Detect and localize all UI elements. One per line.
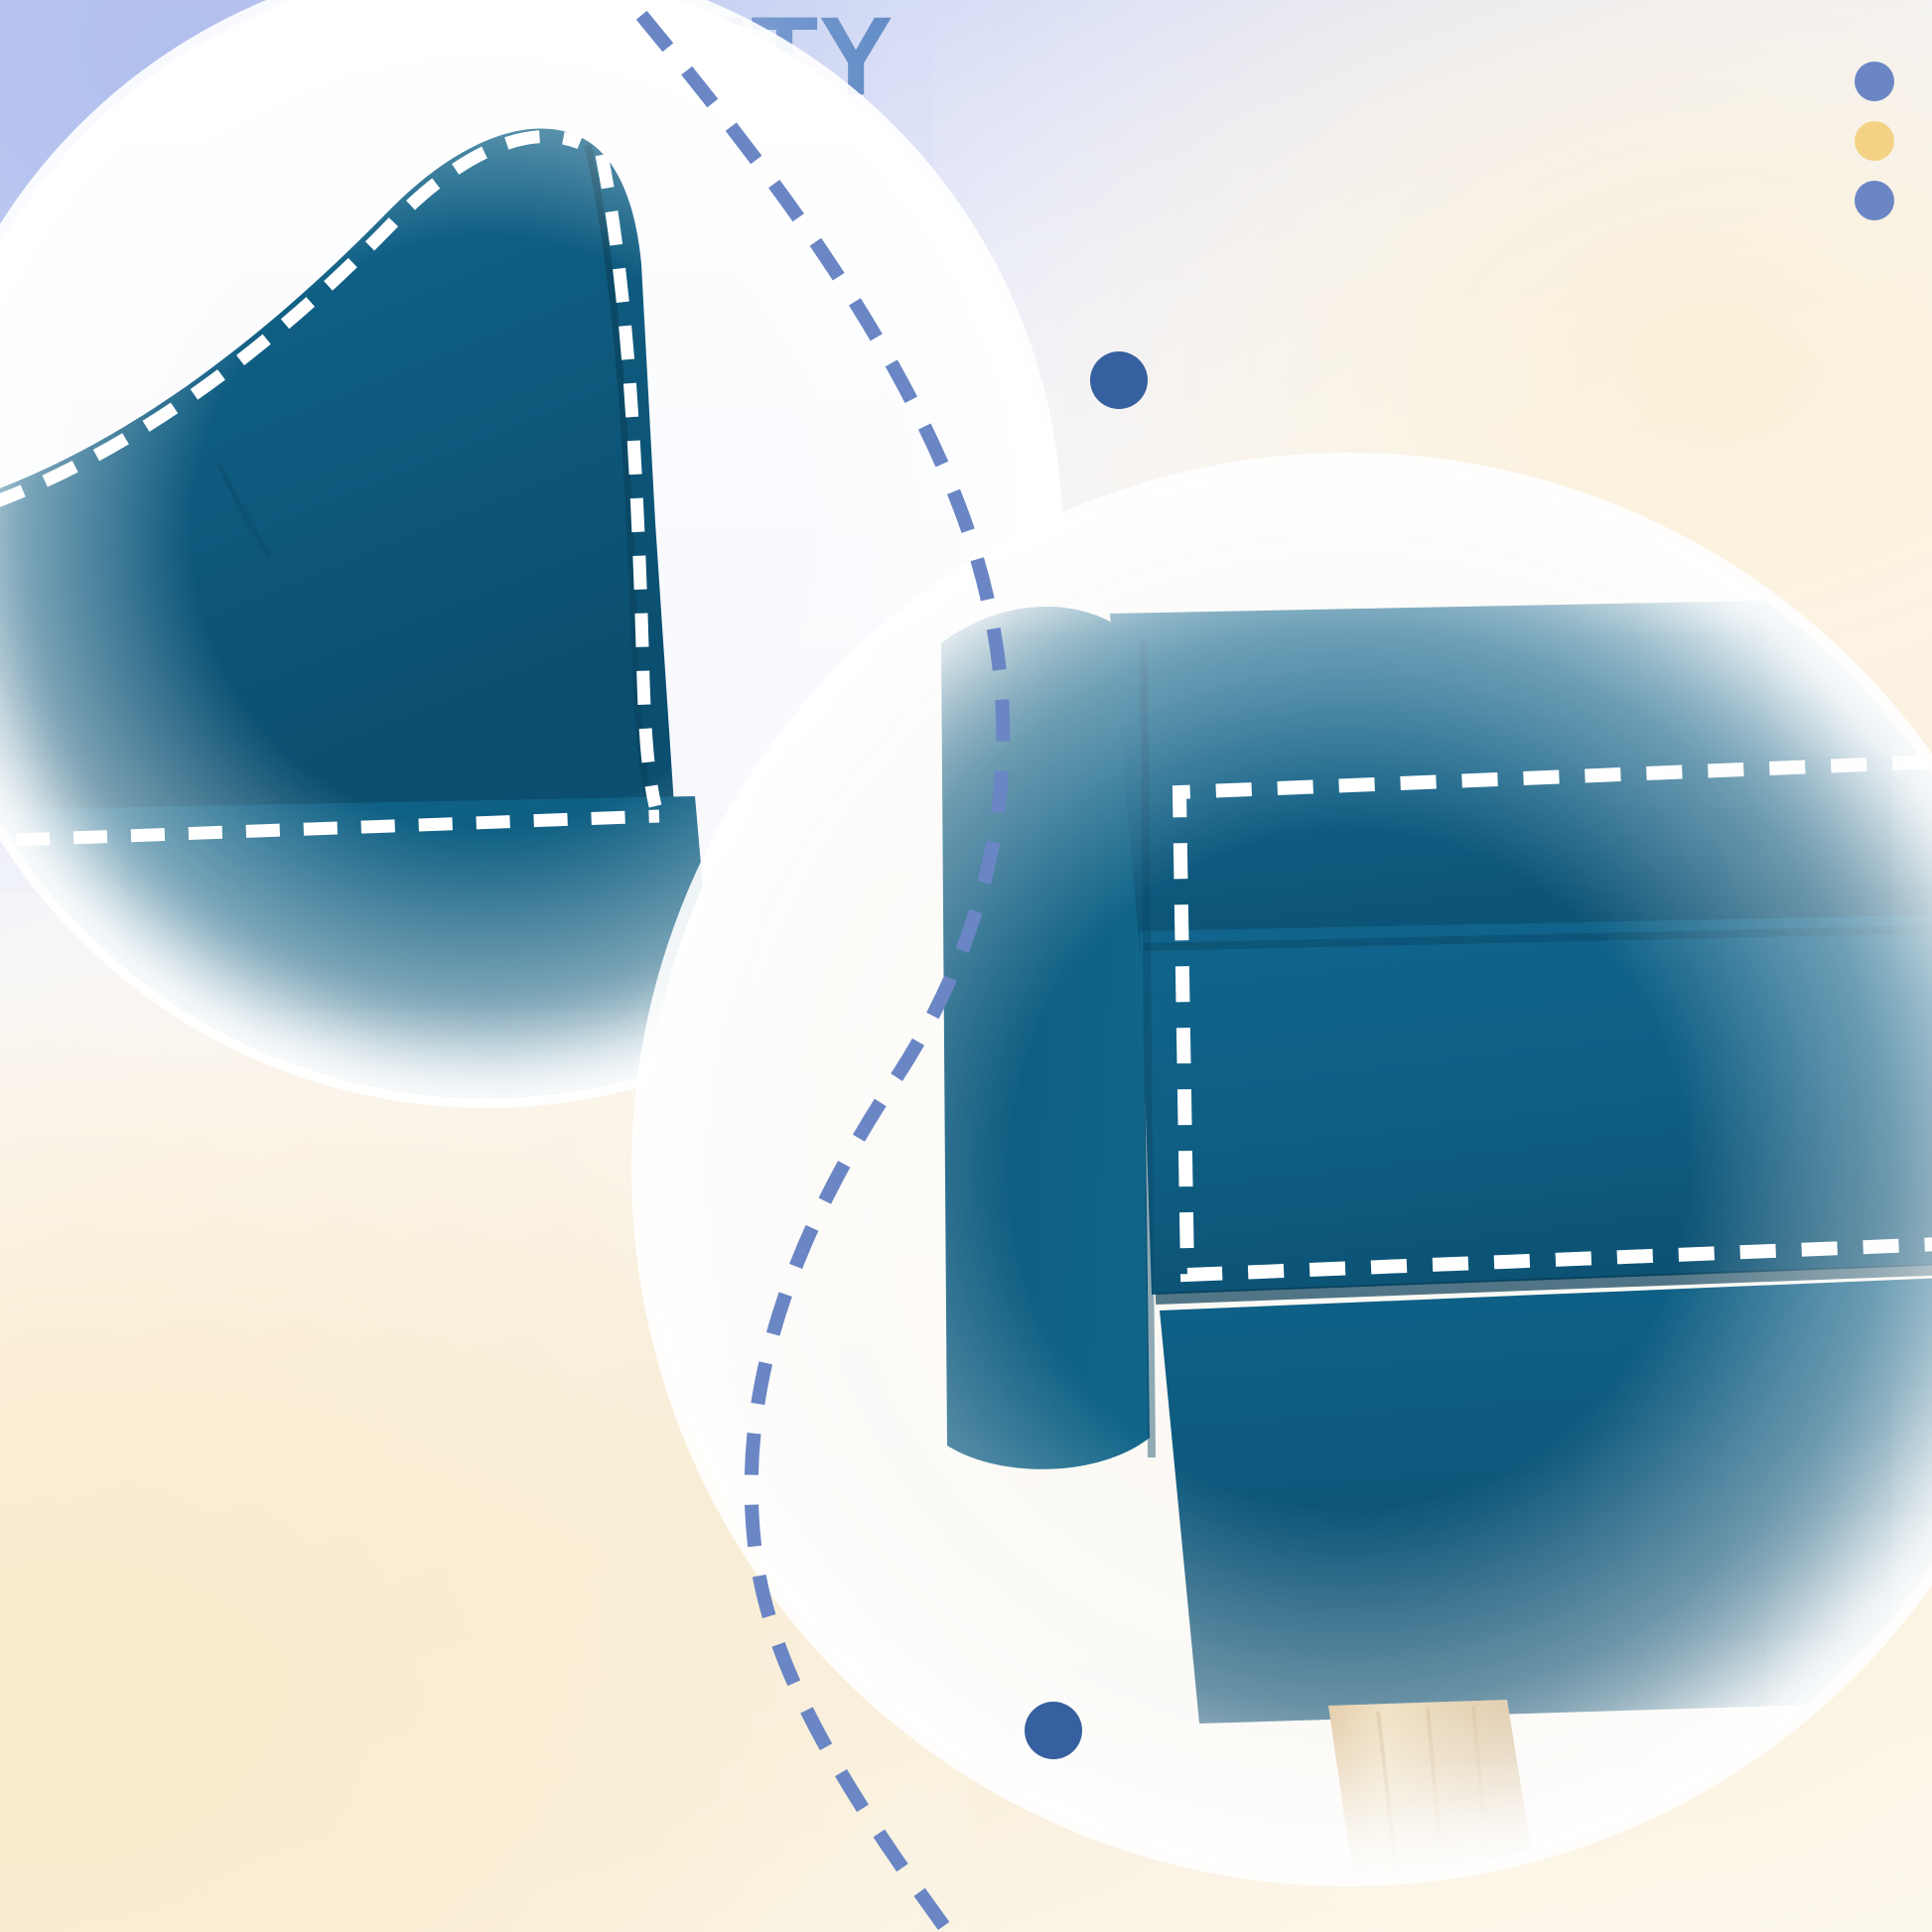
cushion-illustration bbox=[643, 465, 1932, 1874]
wooden-leg bbox=[1328, 1700, 1537, 1874]
cluster-dot-blue-top-icon bbox=[1855, 62, 1894, 101]
decorative-dot-cluster bbox=[1855, 62, 1894, 220]
backrest-panel bbox=[1110, 594, 1932, 951]
seat-shape bbox=[0, 796, 725, 1098]
seat-base-shape bbox=[1160, 1271, 1932, 1724]
connector-dot-bottom bbox=[1025, 1702, 1082, 1759]
cluster-dot-blue-bottom-icon bbox=[1855, 181, 1894, 220]
removable-cushion bbox=[1140, 911, 1932, 1295]
photo-bubble-cushion bbox=[643, 465, 1932, 1874]
cluster-dot-yellow-icon bbox=[1855, 121, 1894, 161]
infographic-canvas: SAFETY DESIGN Protect the pet from falli… bbox=[0, 0, 1932, 1932]
armrest-shape bbox=[941, 607, 1150, 1469]
connector-dot-top bbox=[1090, 351, 1148, 409]
photo-seat-cushion bbox=[643, 465, 1932, 1874]
